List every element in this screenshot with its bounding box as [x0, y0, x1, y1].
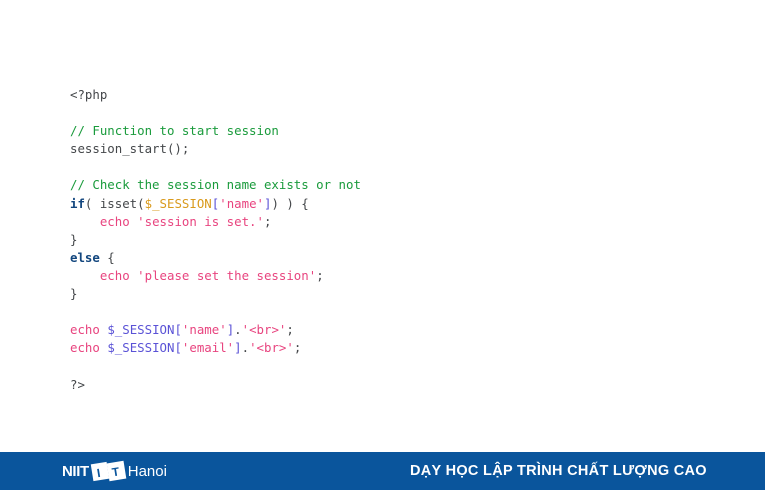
- logo-it-mark-icon: I T: [92, 461, 126, 482]
- code-token-bracket: ]: [234, 340, 241, 355]
- code-line: echo 'please set the session';: [70, 267, 361, 285]
- code-line: echo $_SESSION['email'].'<br>';: [70, 339, 361, 357]
- code-token-punct: ;: [264, 214, 271, 229]
- code-token-keyword: if: [70, 196, 85, 211]
- code-token-echo: echo: [100, 268, 130, 283]
- niit-hanoi-logo: NIIT I T Hanoi: [62, 460, 167, 482]
- code-token-func: isset: [100, 196, 137, 211]
- code-line: [70, 158, 361, 176]
- code-token-string: 'session is set.': [137, 214, 264, 229]
- code-token-punct: (: [85, 196, 100, 211]
- code-token-punct: ;: [294, 340, 301, 355]
- code-token-plain: ?>: [70, 377, 85, 392]
- code-token-echo: echo: [70, 322, 100, 337]
- code-token-punct: .: [242, 340, 249, 355]
- slide-content-area: <?php // Function to start sessionsessio…: [0, 0, 765, 452]
- code-line: [70, 357, 361, 375]
- php-code-block: <?php // Function to start sessionsessio…: [70, 86, 361, 394]
- code-line: ?>: [70, 376, 361, 394]
- code-token-string: '<br>': [249, 340, 294, 355]
- code-token-string: '<br>': [242, 322, 287, 337]
- code-line: // Check the session name exists or not: [70, 176, 361, 194]
- code-token-plain: session_start();: [70, 141, 189, 156]
- code-token-echo: echo: [100, 214, 130, 229]
- code-line: echo 'session is set.';: [70, 213, 361, 231]
- code-token-plain: [70, 268, 100, 283]
- code-line: if( isset($_SESSION['name']) ) {: [70, 195, 361, 213]
- code-line: }: [70, 285, 361, 303]
- code-token-bracket: [: [174, 340, 181, 355]
- code-token-comment: // Function to start session: [70, 123, 279, 138]
- code-token-string: 'email': [182, 340, 234, 355]
- code-token-plain: <?php: [70, 87, 107, 102]
- code-token-punct: ;: [286, 322, 293, 337]
- code-line: }: [70, 231, 361, 249]
- code-line: session_start();: [70, 140, 361, 158]
- code-token-punct: {: [100, 250, 115, 265]
- code-token-punct: ) ) {: [271, 196, 308, 211]
- code-token-varb: $_SESSION: [107, 322, 174, 337]
- code-line: echo $_SESSION['name'].'<br>';: [70, 321, 361, 339]
- code-token-plain: [70, 214, 100, 229]
- code-token-punct: }: [70, 286, 77, 301]
- code-line: [70, 104, 361, 122]
- code-token-punct: (: [137, 196, 144, 211]
- code-token-punct: }: [70, 232, 77, 247]
- logo-mark-letter-t: T: [111, 465, 120, 478]
- logo-location-text: Hanoi: [128, 464, 167, 479]
- code-line: // Function to start session: [70, 122, 361, 140]
- footer-tagline: DẠY HỌC LẬP TRÌNH CHẤT LƯỢNG CAO: [410, 463, 707, 479]
- code-token-punct: .: [234, 322, 241, 337]
- code-token-string: 'name': [219, 196, 264, 211]
- code-token-punct: ;: [316, 268, 323, 283]
- code-token-string: 'name': [182, 322, 227, 337]
- code-token-echo: echo: [70, 340, 100, 355]
- code-token-varg: $_SESSION: [145, 196, 212, 211]
- code-line: <?php: [70, 86, 361, 104]
- code-token-string: 'please set the session': [137, 268, 316, 283]
- code-line: else {: [70, 249, 361, 267]
- code-line: [70, 303, 361, 321]
- slide-footer-bar: NIIT I T Hanoi DẠY HỌC LẬP TRÌNH CHẤT LƯ…: [0, 452, 765, 490]
- code-token-bracket: [: [174, 322, 181, 337]
- code-token-varb: $_SESSION: [107, 340, 174, 355]
- code-token-comment: // Check the session name exists or not: [70, 177, 361, 192]
- logo-brand-text: NIIT: [62, 464, 89, 479]
- code-token-keyword: else: [70, 250, 100, 265]
